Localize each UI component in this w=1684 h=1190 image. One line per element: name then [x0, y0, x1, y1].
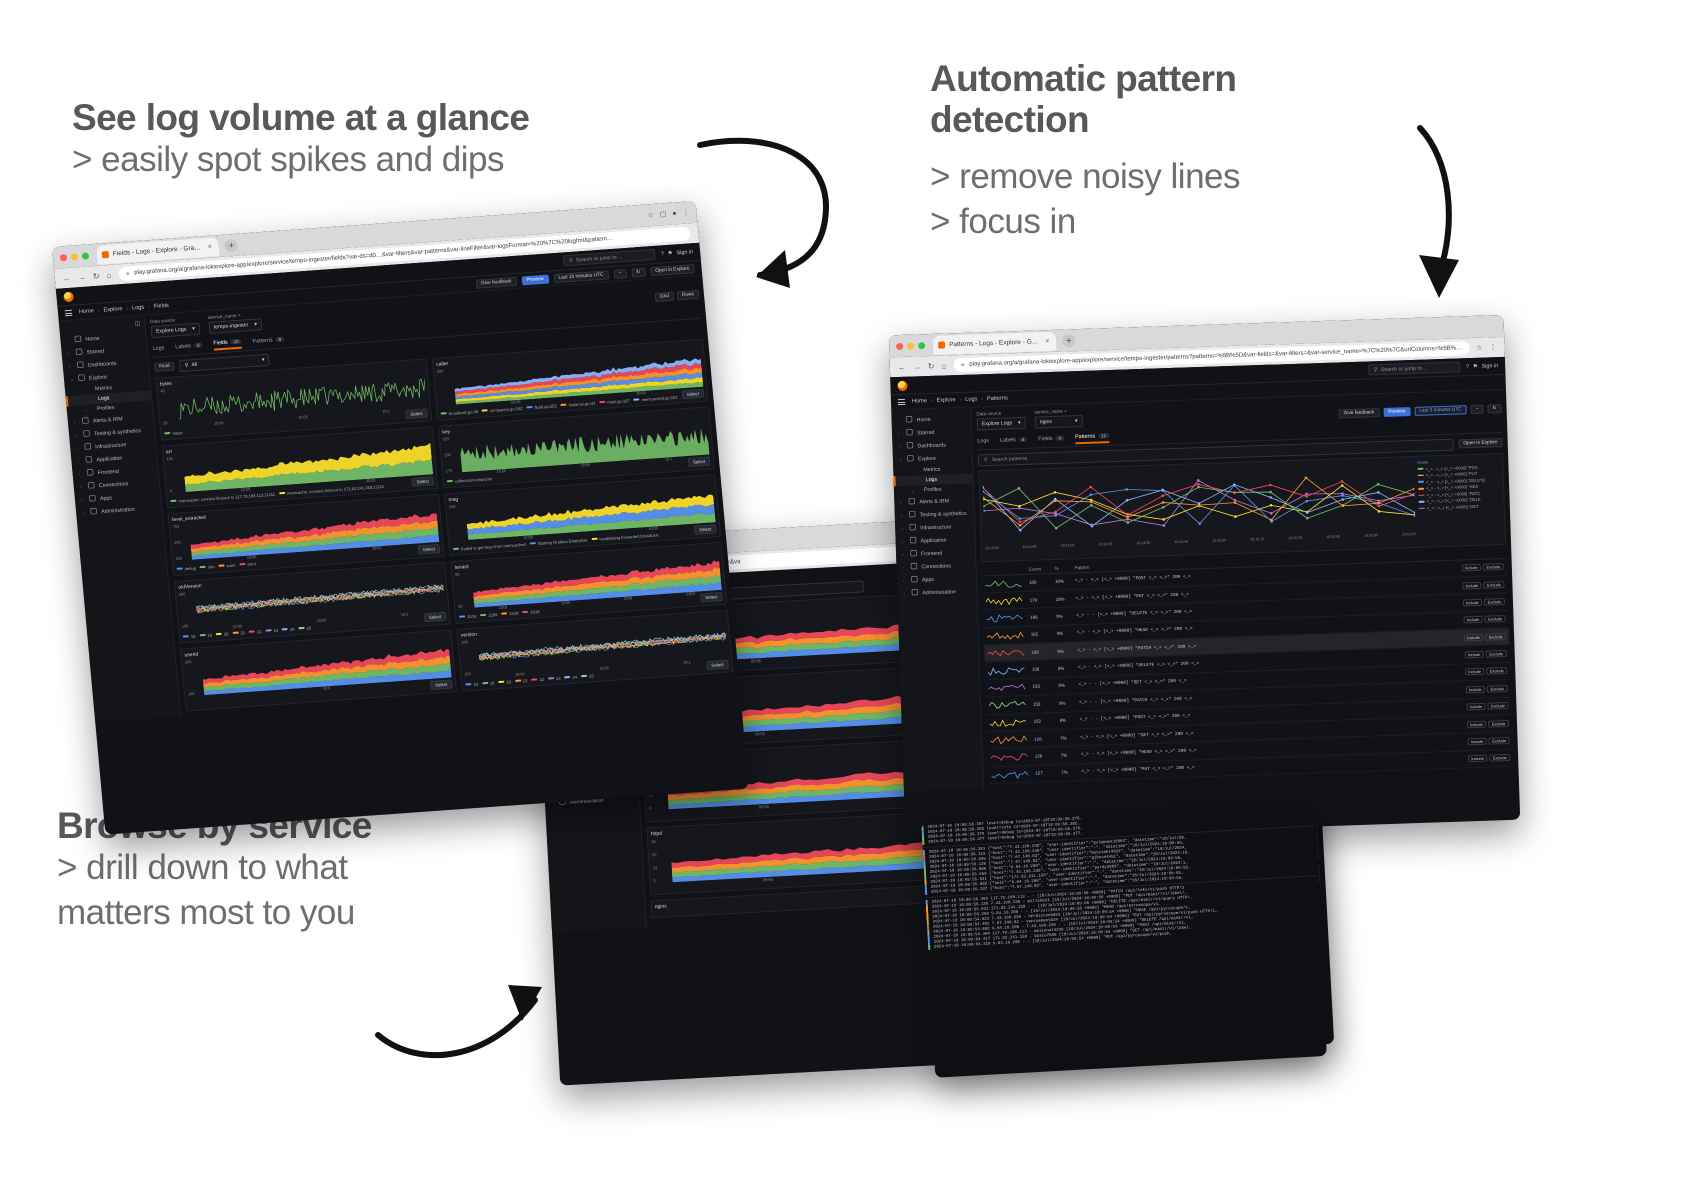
legend-label: 18 [473, 681, 478, 686]
callout-2-sub2: > focus in [930, 200, 1400, 245]
chevron-right-icon: › [902, 539, 906, 544]
include-button[interactable]: Include [1462, 581, 1482, 589]
crumb-home[interactable]: Home [912, 398, 927, 404]
legend-label: error [247, 561, 256, 567]
tab-logs[interactable]: Logs [977, 438, 989, 446]
exclude-button[interactable]: Exclude [1488, 720, 1509, 728]
sidebar-item-label: Starred [86, 348, 104, 355]
x-tick: 10:1 [665, 457, 673, 462]
infrastructure-icon [909, 524, 916, 533]
legend-item[interactable]: 24 [282, 626, 295, 632]
legend-item[interactable]: debug [176, 565, 196, 571]
exclude-button[interactable]: Exclude [1486, 667, 1507, 675]
connections-icon [87, 482, 95, 491]
sidebar-item-label: Explore [918, 455, 936, 462]
select-button[interactable]: Select [694, 524, 717, 535]
legend-item[interactable]: 23 [548, 675, 561, 681]
pattern-percent: 8% [1055, 659, 1076, 677]
sidebar-item-label: Logs [926, 477, 938, 483]
pattern-count: 153 [1029, 677, 1056, 695]
exclude-button[interactable]: Exclude [1486, 650, 1507, 658]
include-button[interactable]: Include [1464, 633, 1484, 641]
star-icon [75, 348, 83, 357]
patterns-chart[interactable]: 10:13:3010:13:4510:14:0010:14:1510:14:30… [982, 460, 1416, 558]
legend-item[interactable]: broadcast.go:48 [440, 408, 478, 416]
legend-item[interactable]: 24 [564, 674, 577, 680]
legend-item[interactable]: 22 [249, 628, 262, 634]
new-tab-button[interactable]: + [224, 238, 238, 252]
bell-icon [908, 498, 915, 507]
crumb-logs[interactable]: Logs [965, 396, 977, 402]
tab-logs[interactable]: Logs [152, 345, 164, 354]
legend-label: 20 [224, 631, 229, 636]
legend-item[interactable]: collectors/compactor [447, 476, 493, 484]
sidebar-item-label: Alerts & IRM [919, 498, 949, 505]
time-range-picker[interactable]: Last 15 minutes UTC [553, 270, 609, 283]
news-icon[interactable]: ⚑ [1473, 363, 1478, 369]
collapse-sidebar-icon[interactable]: ◫ [134, 320, 140, 327]
pattern-percent: 9% [1053, 624, 1074, 642]
field-label: Field [154, 362, 175, 372]
datasource-select[interactable]: Explore Logs ▾ [977, 416, 1026, 430]
legend-item[interactable]: 21 [232, 630, 245, 636]
legend-label: 1019 [467, 613, 477, 619]
chevron-down-icon: ▾ [262, 357, 265, 363]
sidebar-item-label: Dashboards [917, 442, 946, 449]
legend-label: 20 [506, 679, 511, 684]
window2-search-input[interactable]: ⚲ Search or jump to… [1368, 361, 1460, 375]
crumb-explore[interactable]: Explore [103, 306, 122, 313]
include-button[interactable]: Include [1467, 738, 1487, 746]
back-icon[interactable]: ← [898, 362, 906, 371]
legend-item[interactable]: 23 [265, 627, 278, 633]
exclude-button[interactable]: Exclude [1484, 598, 1505, 606]
star-icon[interactable]: ☆ [647, 211, 654, 219]
preview-badge: Preview [521, 274, 549, 285]
field-panel-key: key 225200175 10:0010:0510:1 collectors/… [438, 406, 715, 488]
pattern-percent: 7% [1057, 729, 1078, 747]
infrastructure-icon [84, 443, 92, 452]
y-tick: 500 [174, 540, 187, 545]
legend-item[interactable]: memcached.go:153 [633, 394, 677, 402]
tab-count-badge: 12 [1098, 433, 1109, 438]
traffic-lights-1[interactable] [60, 252, 90, 261]
chevron-right-icon: › [81, 497, 85, 502]
exclude-button[interactable]: Exclude [1489, 754, 1510, 762]
pattern-percent: 7% [1058, 763, 1079, 781]
legend-item[interactable]: 20 [216, 631, 229, 637]
sidebar-item-label: Metrics [923, 467, 940, 474]
datasource-select[interactable]: Explore Logs ▾ [151, 322, 201, 337]
legend-item[interactable]: 20 [498, 679, 511, 685]
menu-icon[interactable] [65, 310, 72, 316]
y-tick: 80 [455, 572, 468, 577]
legend-item[interactable]: error [239, 561, 256, 567]
legend-label: memcached.go:153 [641, 394, 677, 402]
datasource-label: Data source [976, 410, 1025, 417]
exclude-button[interactable]: Exclude [1483, 563, 1504, 571]
exclude-button[interactable]: Exclude [1485, 633, 1506, 641]
x-tick: 09:55 [759, 804, 769, 810]
tab-labels[interactable]: Labels 5 [175, 342, 203, 352]
legend-item[interactable]: 1019 [459, 613, 477, 619]
compass-icon [78, 374, 86, 383]
x-tick: 2419 [624, 596, 633, 601]
tab-label: Logs [977, 438, 989, 444]
field-panel-err: err 1000 10:0010:05 memcache: connect ti… [161, 426, 438, 508]
x-tick: 10:13:45 [1023, 544, 1037, 548]
y-tick: 0 [653, 877, 669, 883]
legend-label: 19 [490, 680, 495, 685]
select-button[interactable]: Select [706, 659, 729, 670]
callout-2-headline-line1: Automatic pattern [930, 58, 1400, 99]
legend-label: 24 [290, 626, 295, 631]
pattern-count: 162 [1028, 625, 1055, 643]
flask-icon [909, 511, 916, 520]
select-button[interactable]: Select [411, 476, 434, 487]
include-button[interactable]: Include [1462, 599, 1482, 607]
callout-1-sub: > easily spot spikes and dips [72, 138, 529, 183]
y-tick: 200 [444, 452, 457, 457]
pattern-percent: 8% [1056, 694, 1077, 712]
close-icon[interactable]: × [238, 313, 241, 318]
x-tick: 10:15:45 [1326, 534, 1340, 538]
chevron-right-icon: › [901, 526, 905, 531]
field-panel-oldVersion: oldVersion 200100 10:0010:0510:1 1819202… [174, 561, 451, 643]
field-panel-userid: userid 200100 10:0 Select [180, 629, 457, 711]
sidebar-item-label: Profiles [924, 487, 942, 494]
legend-label: main.go:107 [607, 398, 630, 405]
chevron-right-icon: › [85, 407, 89, 412]
forward-icon[interactable]: → [913, 362, 921, 371]
extension-icon[interactable]: ▢ [659, 210, 666, 218]
close-icon[interactable]: × [1064, 408, 1067, 413]
patterns-chart-legend: Name<_> - <_> [<_> +0000] "POS<_> - <_> … [1417, 457, 1502, 544]
pattern-count: 128 [1032, 747, 1059, 765]
tab-label: Logs [152, 345, 164, 352]
grafana-favicon [102, 250, 110, 257]
search-icon: ⚲ [984, 457, 988, 463]
browser-tab-patterns[interactable]: Patterns - Logs - Explore - G… × [933, 331, 1057, 354]
x-tick: 10:05 [372, 546, 382, 551]
lock-icon: ⚭ [960, 361, 965, 368]
pattern-sparkline [983, 609, 1028, 628]
administration-icon [911, 588, 918, 597]
news-icon[interactable]: ⚑ [668, 250, 673, 256]
pattern-sparkline [982, 591, 1027, 610]
chevron-down-icon: ▾ [1075, 418, 1078, 424]
home-icon[interactable]: ⌂ [106, 270, 112, 279]
view-toggle-rows[interactable]: Rows [677, 289, 700, 300]
patterns-table-wrap[interactable]: Count%Pattern 180 10% <_> - <_> [<_> +00… [981, 548, 1513, 784]
reload-icon[interactable]: ↻ [92, 271, 100, 280]
browser-window-patterns: Patterns - Logs - Explore - G… × + ← → ↻… [889, 315, 1520, 840]
give-feedback-button[interactable]: Give feedback [476, 276, 517, 288]
y-tick: 100 [166, 456, 179, 461]
select-button[interactable]: Select [430, 679, 453, 690]
star-icon[interactable]: ☆ [1476, 344, 1483, 352]
home-icon[interactable]: ⌂ [941, 361, 946, 370]
sidebar-item-label: Connections [99, 481, 129, 489]
tab-label: Fields [1038, 435, 1053, 441]
dashboards-icon [76, 361, 84, 370]
y-tick: 500 [449, 504, 462, 509]
traffic-lights-2[interactable] [896, 342, 925, 350]
tab-label: Labels [175, 343, 191, 350]
pattern-count: 180 [1026, 573, 1053, 591]
pattern-percent: 8% [1055, 677, 1076, 695]
tab-patterns[interactable]: Patterns 12 [1075, 433, 1109, 444]
refresh-button[interactable]: ↻ [631, 267, 646, 277]
pattern-count: 158 [1028, 643, 1055, 661]
select-button[interactable]: Select [405, 408, 428, 419]
refresh-button[interactable]: ↻ [1487, 404, 1501, 413]
y-tick: 40 [160, 388, 173, 393]
exclude-button[interactable]: Exclude [1487, 702, 1508, 710]
chevron-right-icon: › [74, 420, 78, 425]
sidebar-item-administration[interactable]: › Administration [897, 585, 976, 601]
sidebar-item-label: Logs [98, 395, 110, 402]
callout-log-volume: See log volume at a glance > easily spot… [72, 97, 529, 183]
window1-main: Data source Explore Logs ▾ service_name … [145, 276, 739, 716]
crumb-logs[interactable]: Logs [132, 305, 145, 312]
select-button[interactable]: Select [681, 388, 704, 399]
connections-icon [910, 563, 917, 572]
time-range-picker[interactable]: Last 3 minutes UTC [1414, 405, 1467, 416]
legend-item[interactable]: info [200, 564, 215, 570]
include-button[interactable]: Include [1465, 686, 1485, 694]
include-button[interactable]: Include [1467, 720, 1487, 728]
field-panel-level_extracted: level_extracted 750500250 10:0010:05 deb… [168, 493, 445, 575]
pattern-sparkline [986, 695, 1031, 714]
pattern-sparkline [987, 730, 1032, 749]
close-icon[interactable]: × [1045, 338, 1049, 345]
y-axis: 500 [449, 504, 465, 541]
y-axis: 1000 [166, 456, 182, 493]
profile-avatar[interactable]: ● [672, 210, 677, 217]
forward-icon[interactable]: → [77, 272, 86, 282]
select-button[interactable]: Select [700, 591, 723, 602]
open-in-explore-button[interactable]: Open in Explore [650, 264, 695, 276]
pattern-count: 153 [1030, 695, 1057, 713]
crumb-patterns: Patterns [987, 395, 1008, 402]
x-tick: 10:14:00 [1061, 543, 1075, 547]
y-axis: 3020100 [651, 838, 669, 883]
y-tick: 200 [179, 591, 192, 596]
y-tick: 20 [652, 851, 668, 857]
field-panel-msg: msg 500 10:0010:05 Failed to get keys fr… [444, 474, 721, 556]
chevron-down-icon: ▾ [254, 321, 257, 327]
x-tick: 10:15:30 [1288, 535, 1302, 539]
search-icon: ⚲ [569, 257, 573, 263]
service-name-select[interactable]: nginx ▾ [1034, 414, 1082, 428]
legend-item[interactable]: 18 [183, 633, 196, 639]
field-filter-select[interactable]: ⚲ All ▾ [179, 353, 270, 371]
sidebar-item-label: Profiles [97, 405, 115, 412]
reload-icon[interactable]: ↻ [928, 361, 935, 370]
give-feedback-button[interactable]: Give feedback [1339, 408, 1380, 418]
application-icon [909, 537, 916, 546]
legend-item[interactable]: 21 [515, 678, 528, 684]
open-in-explore-button[interactable]: Open in Explore [1458, 438, 1503, 448]
pattern-count: 166 [1027, 608, 1054, 626]
pattern-sparkline [984, 643, 1029, 662]
legend-label: <_> - <_> [<_> +0000] "GET [1427, 504, 1479, 511]
close-icon[interactable]: × [207, 243, 212, 250]
chevron-right-icon: › [78, 471, 82, 476]
browser-menu-icon[interactable]: ⋮ [1489, 343, 1496, 351]
sidebar-item-label: Explore [89, 374, 107, 381]
legend-item[interactable]: <_> - <_> [<_> +0000] "GET [1419, 503, 1501, 511]
zoom-out-button[interactable]: − [1471, 404, 1484, 413]
legend-label: broadcast.go:48 [448, 408, 478, 415]
legend-item[interactable]: 25 [581, 673, 594, 679]
tab-count-badge: 4 [1019, 437, 1028, 442]
select-button[interactable]: Select [687, 456, 710, 467]
select-button[interactable]: Select [423, 611, 446, 622]
pattern-sparkline [985, 678, 1030, 697]
legend-item[interactable]: 19 [482, 680, 495, 686]
x-tick: 10:15:15 [1250, 537, 1264, 541]
legend-item[interactable]: instance.go:43 [560, 400, 595, 407]
pattern-sparkline [985, 661, 1030, 680]
home-icon [905, 416, 912, 425]
y-axis: 200100 [185, 659, 201, 696]
frontend-icon [910, 550, 917, 559]
select-button[interactable]: Select [417, 543, 440, 554]
help-icon[interactable]: ? [1466, 364, 1469, 370]
chevron-down-icon: ▾ [192, 325, 195, 331]
pattern-actions: Include Exclude [1393, 749, 1513, 770]
chevron-right-icon: › [900, 500, 904, 505]
new-tab-button[interactable]: + [1062, 334, 1075, 347]
legend-item[interactable]: 25 [298, 625, 311, 631]
pattern-percent: 8% [1056, 711, 1077, 729]
x-tick: 10:00 [511, 399, 521, 404]
legend-item[interactable]: Value [164, 430, 183, 436]
y-tick: 200 [185, 659, 198, 664]
x-tick: 10:1 [382, 409, 390, 414]
x-tick: 1299 [561, 600, 570, 605]
x-tick: 10:14:45 [1174, 539, 1188, 543]
include-button[interactable]: Include [1466, 703, 1486, 711]
legend-label: compactor.go:242 [490, 405, 523, 412]
sidebar-item-label: Application [921, 537, 947, 544]
callout-pattern-detection: Automatic pattern detection > remove noi… [930, 58, 1400, 244]
help-icon[interactable]: ? [661, 251, 665, 257]
legend-item[interactable]: 2419 [501, 610, 519, 616]
view-toggle-grid[interactable]: Grid [655, 291, 675, 301]
bell-icon [82, 417, 90, 426]
sidebar-item-label: Frontend [921, 550, 942, 557]
legend-label: 25 [306, 625, 311, 630]
tab-fields[interactable]: Fields 0 [1038, 435, 1064, 444]
pattern-percent: 9% [1054, 642, 1075, 660]
tab-fields[interactable]: Fields 10 [213, 338, 242, 350]
x-tick: 09:55 [763, 877, 773, 883]
callout-3-sub1: > drill down to what [57, 846, 527, 891]
x-tick: 09:55 [755, 731, 765, 737]
x-tick: 10:14:30 [1136, 540, 1150, 544]
callout-1-headline: See log volume at a glance [72, 97, 529, 138]
legend-label: <_> - <_> [<_> +0000] "DELE [1427, 497, 1481, 504]
x-tick: 10:16:15 [1402, 531, 1416, 535]
exclude-button[interactable]: Exclude [1487, 685, 1508, 693]
y-axis: 8060 [455, 572, 471, 609]
exclude-button[interactable]: Exclude [1485, 615, 1506, 623]
legend-item[interactable]: 18 [465, 681, 478, 687]
legend-item[interactable]: warn [218, 562, 235, 568]
frontend-icon [86, 469, 94, 478]
tab-patterns[interactable]: Patterns 8 [252, 336, 284, 346]
browser-menu-icon[interactable]: ⋮ [682, 208, 690, 216]
x-tick: 10:16:00 [1364, 533, 1378, 537]
legend-item[interactable]: compactor.go:242 [482, 405, 523, 413]
chevron-right-icon: › [903, 578, 907, 583]
crumb-explore[interactable]: Explore [936, 397, 955, 404]
include-button[interactable]: Include [1468, 755, 1488, 763]
x-tick: 10:00 [241, 487, 251, 492]
crumb-fields: Fields [154, 303, 169, 310]
window2-signin[interactable]: ? ⚑ Sign in [1466, 363, 1499, 370]
sidebar-item-label: Application [96, 455, 122, 463]
exclude-button[interactable]: Exclude [1483, 581, 1504, 589]
window2-sidebar: Home › Starred › Dashboards ⌄ Explore Me… [891, 408, 984, 791]
grafana-favicon [938, 341, 945, 348]
legend-label: warn [226, 562, 235, 568]
chevron-right-icon: › [75, 433, 79, 438]
x-tick: 10:14:15 [1099, 542, 1113, 546]
legend-item[interactable]: 1299 [480, 612, 498, 618]
tab-count-badge: 0 [1056, 436, 1065, 441]
application-icon [85, 456, 93, 465]
preview-badge: Preview [1383, 407, 1410, 417]
legend-item[interactable]: 19 [199, 632, 212, 638]
pattern-count: 158 [1029, 660, 1056, 678]
crumb-home[interactable]: Home [79, 308, 94, 315]
legend-item[interactable]: 22 [531, 676, 544, 682]
legend-label: 23 [556, 675, 561, 680]
legend-item[interactable]: flush.go:253 [526, 403, 557, 410]
menu-icon[interactable] [898, 399, 905, 405]
legend-item[interactable]: 2919 [522, 609, 540, 615]
callout-3-sub2: matters most to you [57, 891, 527, 936]
lock-icon: ⚭ [125, 270, 131, 277]
chevron-right-icon: › [898, 431, 902, 436]
include-button[interactable]: Include [1463, 616, 1483, 624]
window1-signin[interactable]: ? ⚑ Sign in [661, 249, 694, 257]
service-name-select[interactable]: tempo-ingester ▾ [208, 318, 262, 334]
legend-item[interactable]: main.go:107 [599, 398, 630, 405]
pattern-sparkline [984, 626, 1029, 645]
legend-label: Starting Grafana Enterprise [537, 537, 587, 546]
exclude-button[interactable]: Exclude [1489, 737, 1510, 745]
include-button[interactable]: Include [1464, 651, 1484, 659]
arrow-to-window-3 [370, 955, 560, 1070]
x-tick: 10:00 [247, 555, 257, 560]
sidebar-item-label: Testing & synthetics [920, 510, 967, 518]
back-icon[interactable]: ← [62, 273, 71, 283]
include-button[interactable]: Include [1465, 668, 1485, 676]
pattern-sparkline [988, 748, 1033, 767]
chevron-right-icon: › [901, 513, 905, 518]
tab-labels[interactable]: Labels 4 [1000, 436, 1028, 445]
include-button[interactable]: Include [1461, 564, 1481, 572]
zoom-out-button[interactable]: − [613, 269, 627, 279]
star-icon [906, 429, 913, 438]
sidebar-item-label: Dashboards [88, 360, 117, 368]
legend-label: <_> - <_> [<_> +0000] "POS [1425, 464, 1477, 471]
